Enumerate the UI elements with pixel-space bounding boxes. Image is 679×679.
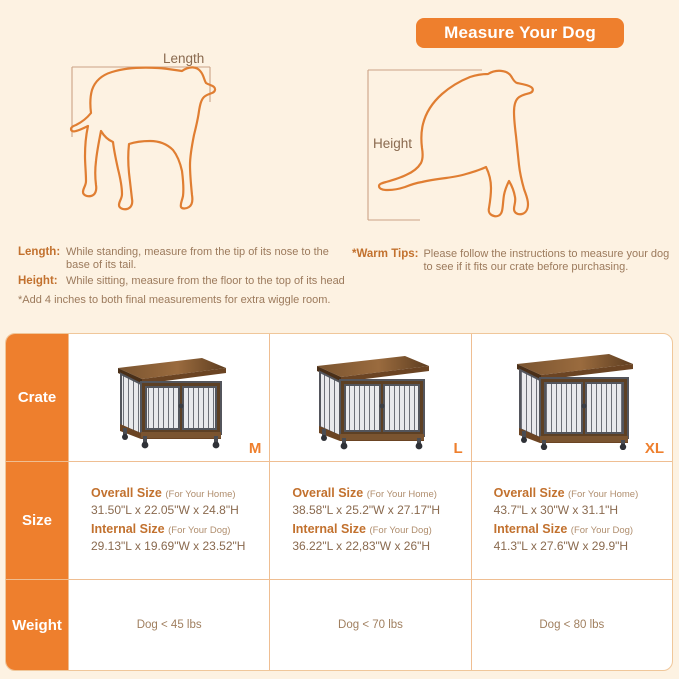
internal-size-title: Internal Size [91,522,165,536]
overall-size-sub: (For Your Home) [367,489,437,500]
dog-crate-furniture-icon [307,346,433,450]
dog-standing-silhouette-icon [70,45,320,240]
crate-spec-table: Crate [5,333,673,671]
overall-size-label-m: Overall Size (For Your Home) [91,485,245,502]
internal-size-sub: (For Your Dog) [369,525,431,536]
length-dimension-label: Length [163,51,204,66]
table-row-crate: Crate [6,334,672,462]
instruction-desc-height: While sitting, measure from the floor to… [66,275,345,288]
internal-size-value-m: 29.13"L x 19.69"W x 23.52"H [91,538,245,555]
table-row-size: Size Overall Size (For Your Home) 31.50"… [6,462,672,580]
row-header-weight: Weight [6,580,68,670]
size-tag-m: M [249,440,262,457]
size-cell-m: Overall Size (For Your Home) 31.50"L x 2… [68,462,269,579]
overall-size-value-l: 38.58"L x 25.2"W x 27.17"H [292,502,440,519]
internal-size-title: Internal Size [494,522,568,536]
overall-size-sub: (For Your Home) [165,489,235,500]
weight-cell-l: Dog < 70 lbs [269,580,470,670]
crate-cell-l: L [269,334,470,461]
size-tag-xl: XL [645,440,664,457]
size-tag-l: L [453,440,462,457]
overall-size-label-l: Overall Size (For Your Home) [292,485,440,502]
overall-size-sub: (For Your Home) [568,489,638,500]
internal-size-label-l: Internal Size (For Your Dog) [292,521,440,538]
warm-tips: *Warm Tips: Please follow the instructio… [352,248,672,274]
crate-cell-xl: XL [471,334,672,461]
internal-size-value-xl: 41.3"L x 27.6"W x 29.9"H [494,538,639,555]
overall-size-title: Overall Size [494,486,565,500]
warm-tips-term: *Warm Tips: [352,248,423,261]
size-cell-l: Overall Size (For Your Home) 38.58"L x 2… [269,462,470,579]
weight-cell-xl: Dog < 80 lbs [471,580,672,670]
weight-cell-m: Dog < 45 lbs [68,580,269,670]
size-cell-xl: Overall Size (For Your Home) 43.7"L x 30… [471,462,672,579]
instruction-desc-length: While standing, measure from the tip of … [66,246,348,272]
crate-cell-m: M [68,334,269,461]
dog-crate-furniture-icon [509,346,635,450]
overall-size-label-xl: Overall Size (For Your Home) [494,485,639,502]
overall-size-title: Overall Size [91,486,162,500]
weight-value-xl: Dog < 80 lbs [539,619,604,631]
height-dimension-label: Height [373,136,412,151]
instruction-row-height: Height: While sitting, measure from the … [18,275,348,288]
weight-value-l: Dog < 70 lbs [338,619,403,631]
internal-size-sub: (For Your Dog) [168,525,230,536]
internal-size-title: Internal Size [292,522,366,536]
instruction-row-length: Length: While standing, measure from the… [18,246,348,272]
measuring-instructions: Length: While standing, measure from the… [18,246,348,307]
overall-size-value-xl: 43.7"L x 30"W x 31.1"H [494,502,639,519]
instruction-term-height: Height: [18,275,66,288]
instruction-note: *Add 4 inches to both final measurements… [18,294,348,307]
dog-crate-furniture-icon [106,346,232,450]
overall-size-value-m: 31.50"L x 22.05"W x 24.8"H [91,502,245,519]
internal-size-label-m: Internal Size (For Your Dog) [91,521,245,538]
table-row-weight: Weight Dog < 45 lbs Dog < 70 lbs Dog < 8… [6,580,672,670]
overall-size-title: Overall Size [292,486,363,500]
instruction-term-length: Length: [18,246,66,259]
measurement-diagram: Length Height [0,0,679,245]
warm-tips-desc: Please follow the instructions to measur… [423,248,672,274]
row-header-crate: Crate [6,334,68,461]
weight-value-m: Dog < 45 lbs [137,619,202,631]
internal-size-value-l: 36.22"L x 22,83"W x 26"H [292,538,440,555]
internal-size-label-xl: Internal Size (For Your Dog) [494,521,639,538]
internal-size-sub: (For Your Dog) [571,525,633,536]
row-header-size: Size [6,462,68,579]
